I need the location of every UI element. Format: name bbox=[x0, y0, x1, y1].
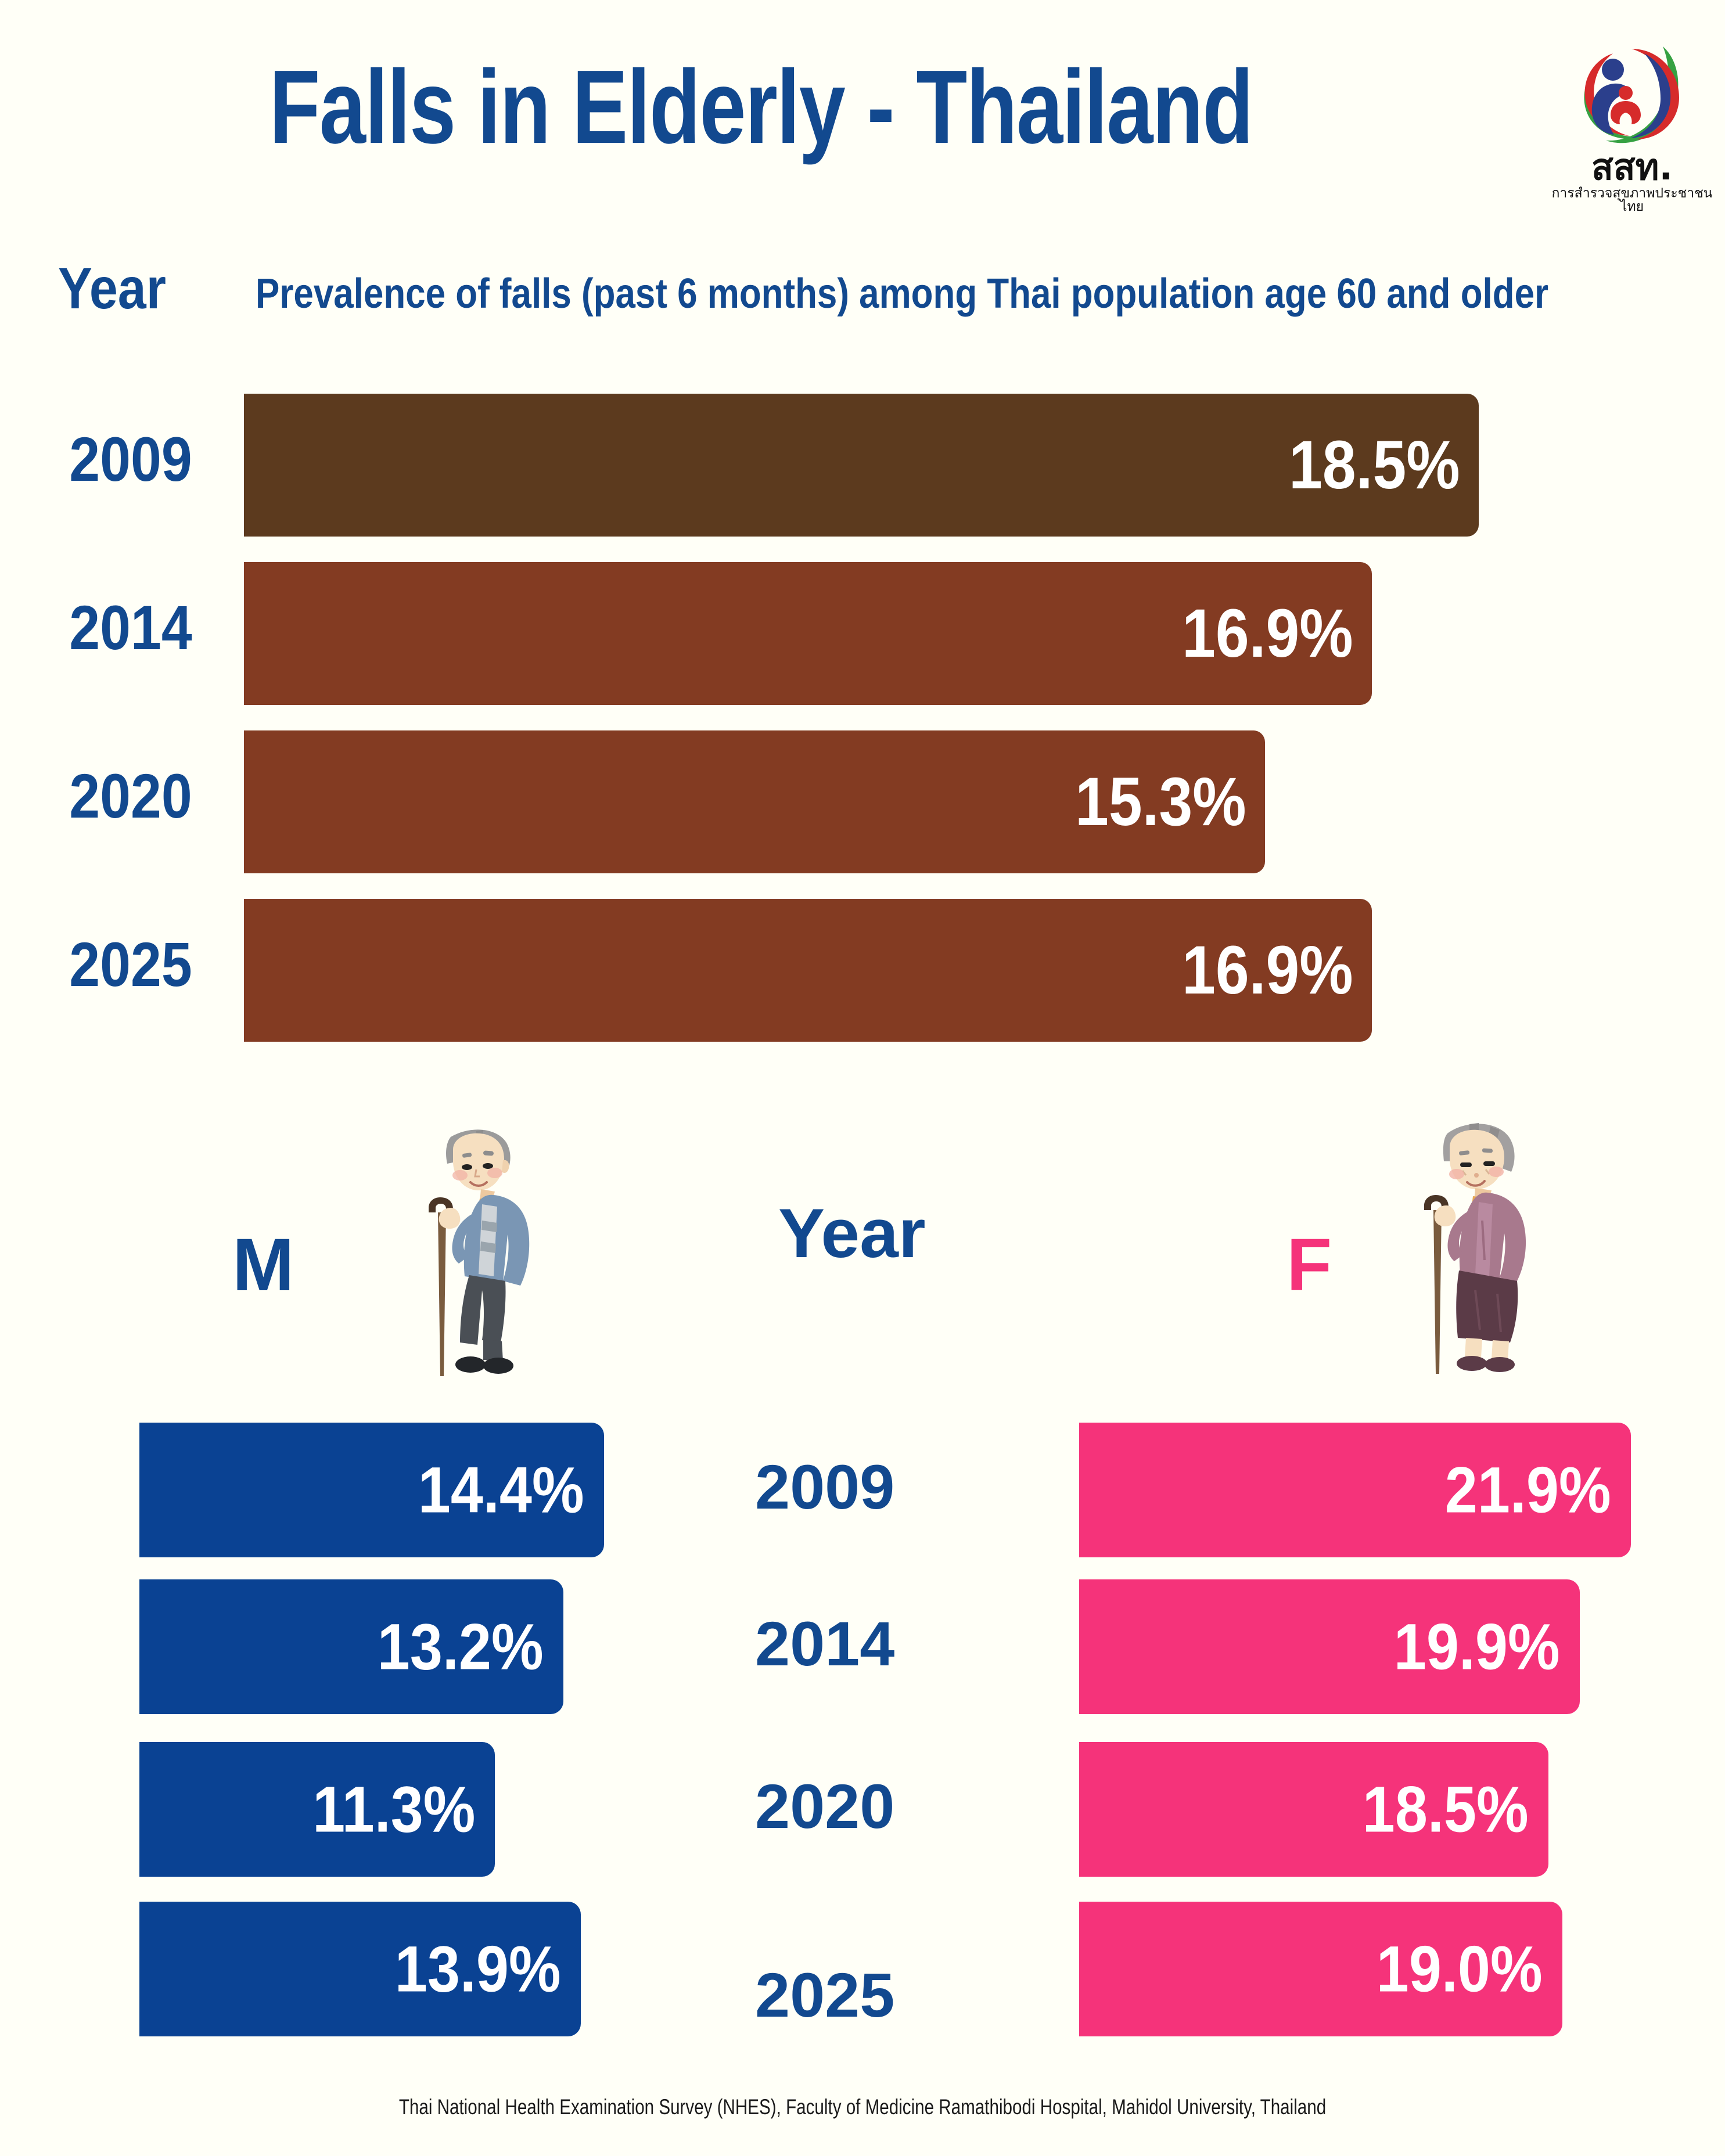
female-bar: 18.5% bbox=[1079, 1742, 1548, 1877]
gender-prevalence-charts: 14.4% 2009 21.9% 13.2% 2014 19.9% 11.3% … bbox=[0, 1092, 1725, 2067]
logo-subtitle-text: การสำรวจสุขภาพประชาชนไทย bbox=[1548, 187, 1716, 214]
gender-year-label: 2009 bbox=[755, 1450, 999, 1523]
male-bar-value: 13.9% bbox=[395, 1932, 561, 2007]
gender-year-label: 2014 bbox=[755, 1607, 999, 1680]
logo-abbrev-text: สสท. bbox=[1548, 149, 1716, 185]
overall-year-label: 2025 bbox=[46, 928, 215, 1000]
overall-bar-value: 15.3% bbox=[1076, 762, 1246, 841]
male-bar: 14.4% bbox=[139, 1423, 604, 1557]
overall-bar: 15.3% bbox=[244, 730, 1265, 873]
table-row: 2025 16.9% bbox=[0, 888, 1725, 1057]
female-bar: 19.0% bbox=[1079, 1902, 1562, 2036]
subheader-row: Year Prevalence of falls (past 6 months)… bbox=[0, 255, 1725, 331]
gender-year-label: 2020 bbox=[755, 1770, 999, 1842]
male-bar-value: 14.4% bbox=[418, 1453, 584, 1528]
gender-year-label: 2025 bbox=[755, 1959, 999, 2031]
female-bar-value: 21.9% bbox=[1445, 1453, 1611, 1528]
overall-bar-value: 16.9% bbox=[1183, 931, 1353, 1010]
year-column-header: Year bbox=[58, 255, 166, 322]
female-bar-value: 18.5% bbox=[1363, 1772, 1529, 1847]
female-bar-value: 19.9% bbox=[1394, 1610, 1560, 1685]
male-bar: 11.3% bbox=[139, 1742, 495, 1877]
table-row: 13.9% 2025 19.0% bbox=[0, 1902, 1725, 2053]
header: Falls in Elderly - Thailand สสท. การสำ bbox=[0, 0, 1725, 232]
overall-year-label: 2020 bbox=[46, 760, 215, 832]
overall-year-label: 2014 bbox=[46, 591, 215, 664]
male-bar: 13.2% bbox=[139, 1579, 563, 1714]
overall-bar-value: 16.9% bbox=[1183, 594, 1353, 673]
chart-subtitle: Prevalence of falls (past 6 months) amon… bbox=[256, 270, 1548, 318]
overall-bar-value: 18.5% bbox=[1289, 426, 1460, 505]
overall-prevalence-chart: 2009 18.5% 2014 16.9% 2020 15.3% 2025 16… bbox=[0, 383, 1725, 1057]
male-bar-value: 11.3% bbox=[312, 1772, 475, 1847]
overall-bar: 16.9% bbox=[244, 899, 1372, 1042]
table-row: 13.2% 2014 19.9% bbox=[0, 1579, 1725, 1730]
table-row: 11.3% 2020 18.5% bbox=[0, 1742, 1725, 1893]
overall-year-label: 2009 bbox=[46, 423, 215, 495]
female-bar: 19.9% bbox=[1079, 1579, 1580, 1714]
overall-bar: 18.5% bbox=[244, 394, 1479, 537]
nhes-logo: สสท. การสำรวจสุขภาพประชาชนไทย bbox=[1548, 36, 1716, 204]
female-bar: 21.9% bbox=[1079, 1423, 1631, 1557]
male-bar-value: 13.2% bbox=[378, 1610, 544, 1685]
table-row: 2014 16.9% bbox=[0, 552, 1725, 720]
overall-bar: 16.9% bbox=[244, 562, 1372, 705]
nhes-logo-mark bbox=[1576, 36, 1692, 152]
table-row: 14.4% 2009 21.9% bbox=[0, 1423, 1725, 1574]
male-bar: 13.9% bbox=[139, 1902, 581, 2036]
source-citation: Thai National Health Examination Survey … bbox=[172, 2095, 1552, 2119]
female-bar-value: 19.0% bbox=[1377, 1932, 1543, 2007]
table-row: 2009 18.5% bbox=[0, 383, 1725, 552]
table-row: 2020 15.3% bbox=[0, 720, 1725, 888]
page-title: Falls in Elderly - Thailand bbox=[152, 52, 1370, 162]
